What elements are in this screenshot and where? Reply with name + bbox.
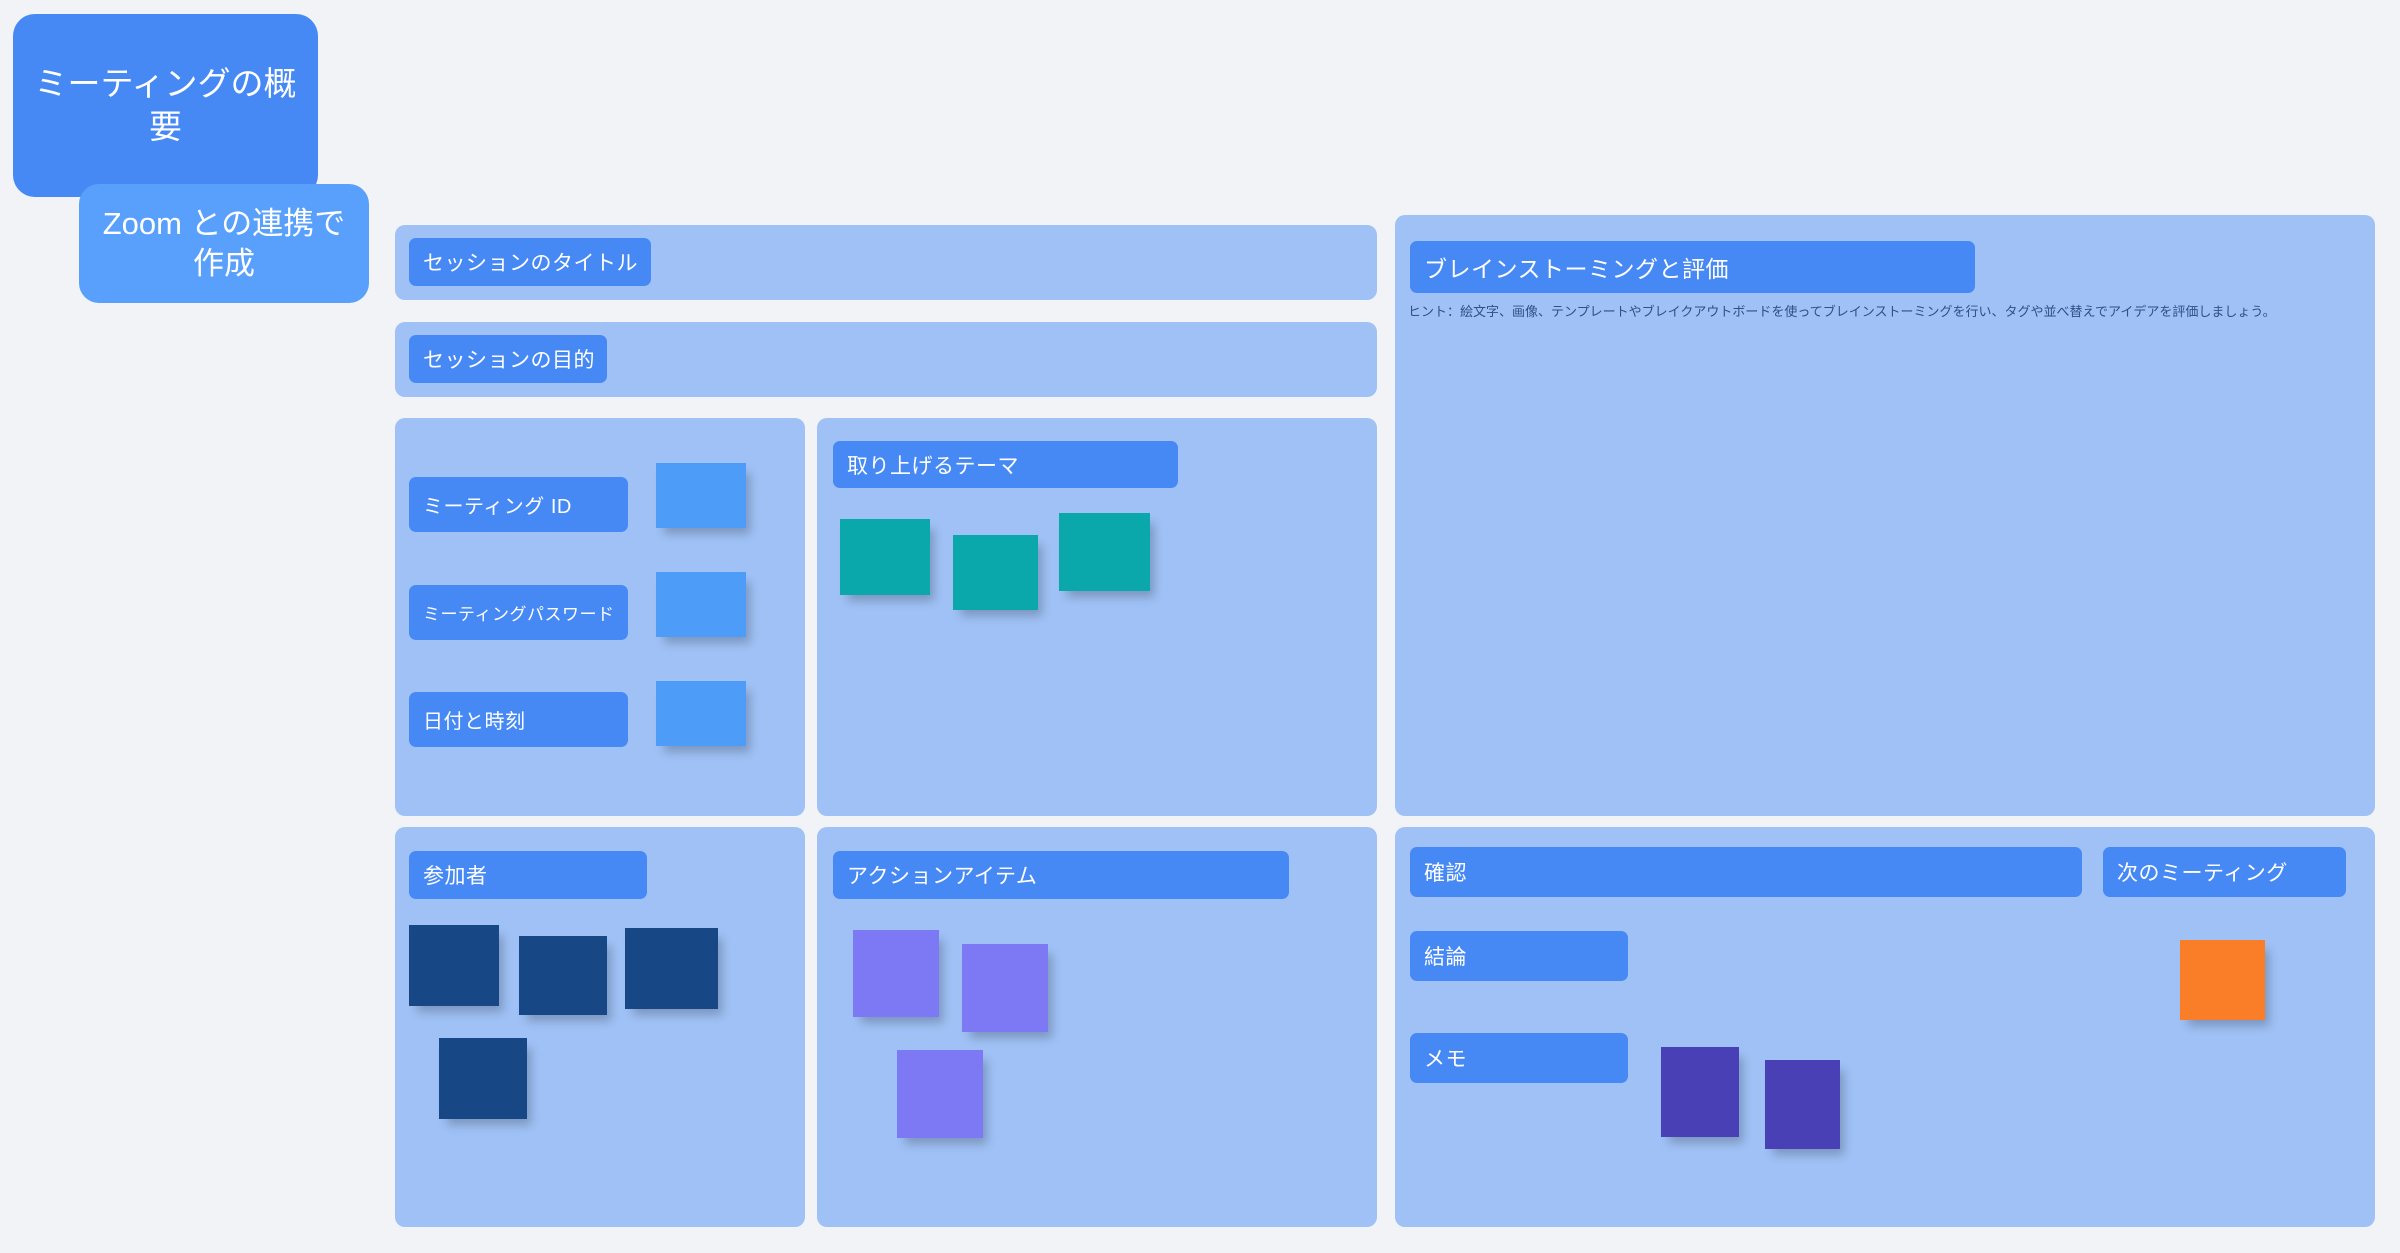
chip-conclusion[interactable]: 結論 <box>1410 931 1628 981</box>
chip-session-title[interactable]: セッションのタイトル <box>409 238 651 286</box>
sticky-note-participant[interactable] <box>625 928 718 1009</box>
chip-session-purpose[interactable]: セッションの目的 <box>409 335 607 383</box>
sticky-note-participant[interactable] <box>439 1038 527 1119</box>
chip-meeting-id[interactable]: ミーティング ID <box>409 477 628 532</box>
sticky-note-meeting-id[interactable] <box>656 463 746 528</box>
chip-meeting-datetime[interactable]: 日付と時刻 <box>409 692 628 747</box>
zone-conclusion-notes[interactable] <box>1641 920 2082 1007</box>
sticky-note-topic[interactable] <box>953 535 1038 610</box>
chip-meeting-password[interactable]: ミーティングパスワード <box>409 585 628 640</box>
sticky-note-meeting-datetime[interactable] <box>656 681 746 746</box>
sticky-note-meeting-password[interactable] <box>656 572 746 637</box>
sticky-note-participant[interactable] <box>409 925 499 1006</box>
chip-review[interactable]: 確認 <box>1410 847 2082 897</box>
chip-memo[interactable]: メモ <box>1410 1033 1628 1083</box>
chip-topics[interactable]: 取り上げるテーマ <box>833 441 1178 488</box>
sticky-note-next-meeting[interactable] <box>2180 940 2265 1020</box>
tab-meeting-overview-label: ミーティングの概要 <box>31 63 300 149</box>
tab-zoom-integration-label: Zoom との連携で作成 <box>95 204 353 283</box>
sticky-note-topic[interactable] <box>1059 513 1150 591</box>
tab-zoom-integration[interactable]: Zoom との連携で作成 <box>79 184 369 303</box>
sticky-note-topic[interactable] <box>840 519 930 595</box>
sticky-note-participant[interactable] <box>519 936 607 1015</box>
chip-participants[interactable]: 参加者 <box>409 851 647 899</box>
sticky-note-memo[interactable] <box>1661 1047 1739 1137</box>
sticky-note-action-item[interactable] <box>897 1050 983 1138</box>
sticky-note-memo[interactable] <box>1765 1060 1840 1149</box>
sticky-note-action-item[interactable] <box>962 944 1048 1032</box>
chip-action-items[interactable]: アクションアイテム <box>833 851 1289 899</box>
chip-next-meeting[interactable]: 次のミーティング <box>2103 847 2346 897</box>
tab-meeting-overview[interactable]: ミーティングの概要 <box>13 14 318 197</box>
chip-brainstorming[interactable]: ブレインストーミングと評価 <box>1410 241 1975 293</box>
sticky-note-action-item[interactable] <box>853 930 939 1017</box>
brainstorming-hint-text: ヒント：絵文字、画像、テンプレートやブレイクアウトボードを使ってブレインストーミ… <box>1408 301 2276 320</box>
